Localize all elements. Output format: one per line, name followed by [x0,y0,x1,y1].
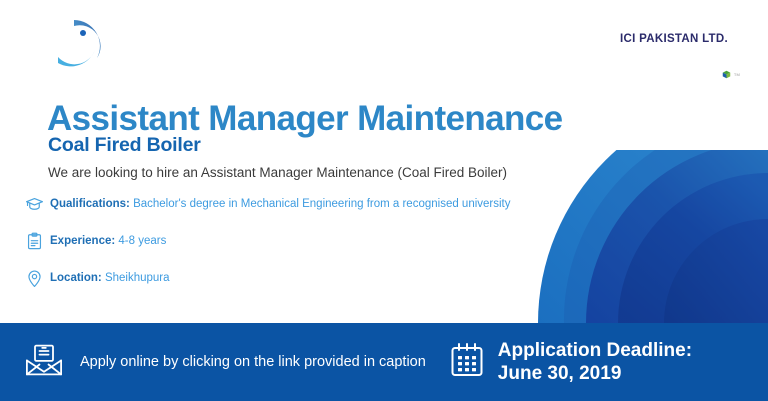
job-details-list: Qualifications: Bachelor's degree in Mec… [23,189,563,300]
deadline-label: Application Deadline: [498,340,692,361]
detail-text-qualifications: Qualifications: Bachelor's degree in Mec… [50,198,511,210]
detail-row-location: Location: Sheikhupura [23,263,563,293]
apply-online-text: Apply online by clicking on the link pro… [80,354,426,370]
deadline-date: June 30, 2019 [498,363,622,384]
bottom-banner: Apply online by clicking on the link pro… [0,323,768,401]
cube-logo-icon [722,70,731,79]
job-title: Assistant Manager Maintenance [47,101,563,136]
detail-value-experience: 4-8 years [118,235,166,247]
detail-value-location: Sheikhupura [105,272,170,284]
detail-label-experience: Experience: [50,235,115,247]
deadline-text: Application Deadline: June 30, 2019 [498,339,692,385]
detail-value-qualifications: Bachelor's degree in Mechanical Engineer… [133,198,510,210]
job-intro-text: We are looking to hire an Assistant Mana… [48,165,507,180]
company-name: ICI PAKISTAN LTD. [620,33,728,45]
apply-online-block[interactable]: Apply online by clicking on the link pro… [24,342,426,383]
location-pin-icon [23,267,45,289]
job-advertisement-poster: ICI PAKISTAN LTD. TM Assistant Manager M… [0,0,768,401]
detail-row-qualifications: Qualifications: Bachelor's degree in Mec… [23,189,563,219]
calendar-icon [450,342,484,383]
secondary-brand-text: TM [734,72,740,77]
job-subtitle: Coal Fired Boiler [48,136,201,156]
clipboard-icon [23,230,45,252]
detail-label-qualifications: Qualifications: [50,198,130,210]
secondary-brand-logo: TM [722,70,740,79]
ici-swirl-logo [45,17,103,75]
detail-label-location: Location: [50,272,102,284]
detail-text-experience: Experience: 4-8 years [50,235,166,247]
detail-row-experience: Experience: 4-8 years [23,226,563,256]
detail-text-location: Location: Sheikhupura [50,272,170,284]
graduation-cap-icon [23,193,45,215]
open-envelope-icon [24,342,64,383]
application-deadline-block: Application Deadline: June 30, 2019 [450,339,692,385]
